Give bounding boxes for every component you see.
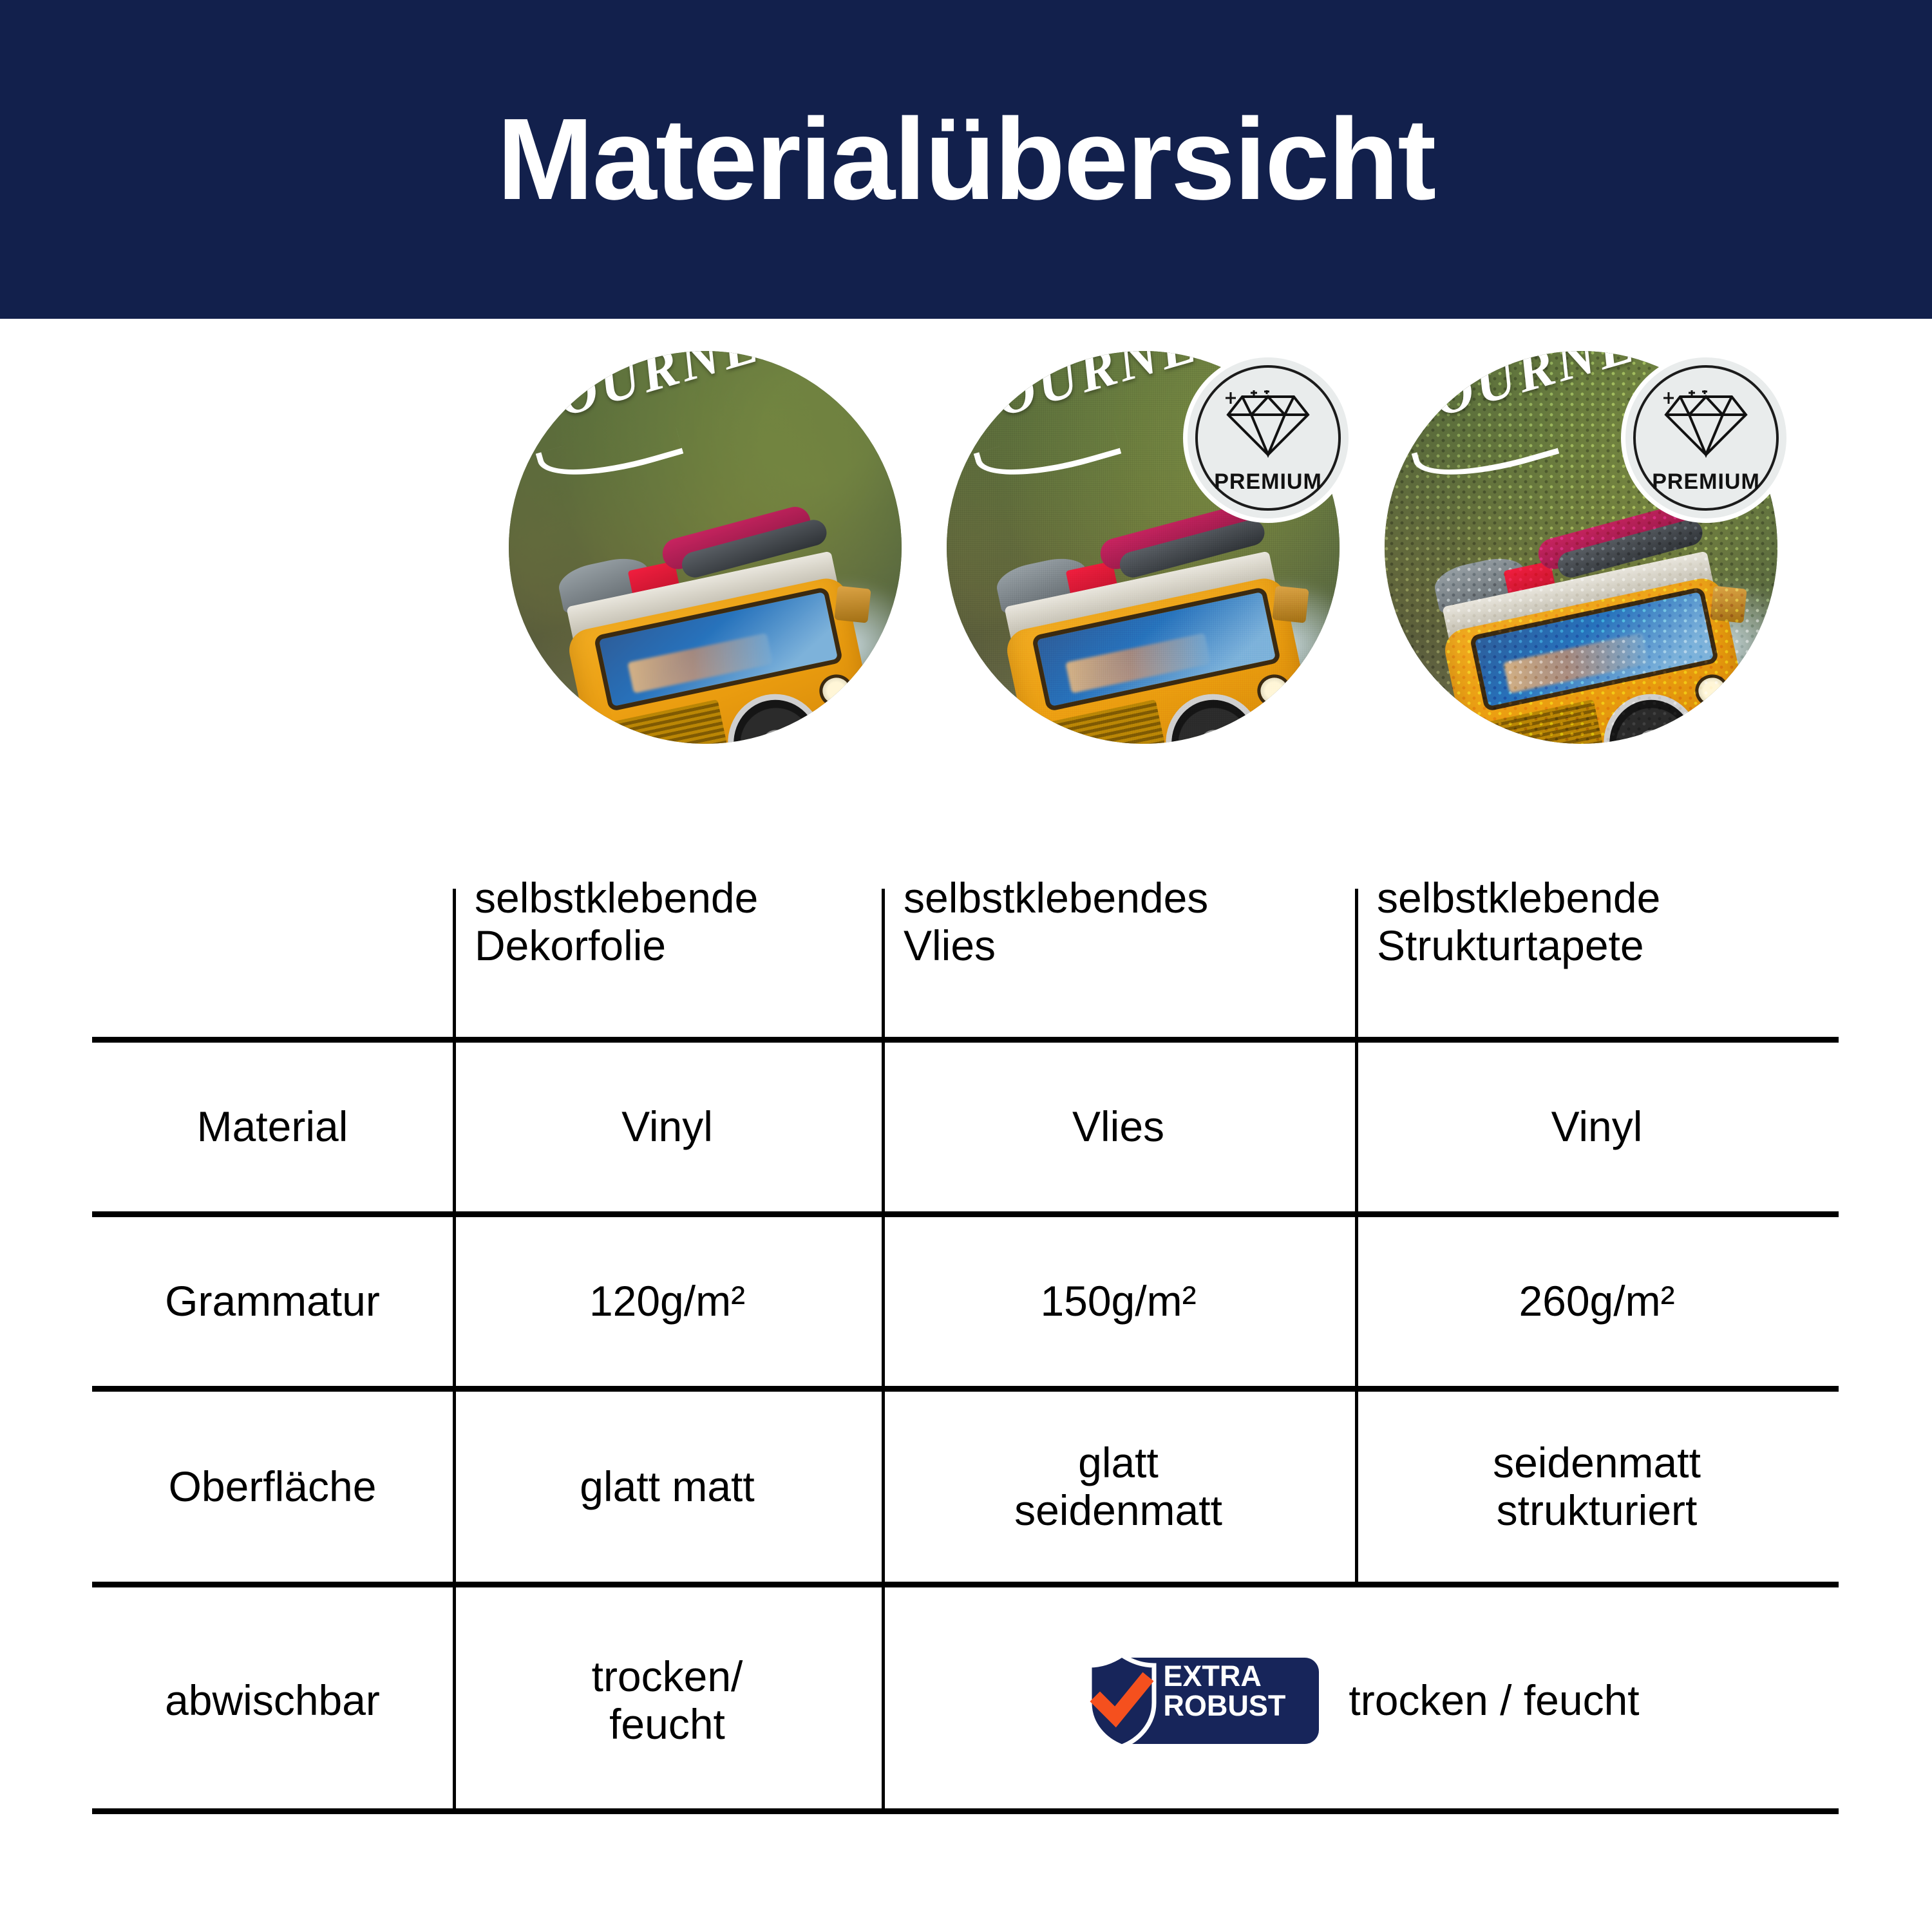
table-row: Grammatur 120g/m² 150g/m² 260g/m² xyxy=(92,1217,1839,1386)
column-header-strukturtapete: selbstklebende Strukturtapete xyxy=(1355,857,1839,1037)
table-header-row: selbstklebende Dekorfolie selbstklebende… xyxy=(92,857,1839,1037)
cell-grammatur-vlies: 150g/m² xyxy=(882,1217,1355,1386)
van-graphic xyxy=(522,492,902,744)
premium-badge-label: PREMIUM xyxy=(1214,469,1322,495)
cell-abwischbar-merged: EXTRA ROBUST trocken / feucht xyxy=(882,1587,1839,1814)
column-header-line2: Strukturtapete xyxy=(1377,922,1660,970)
van-side-mirror xyxy=(834,586,871,623)
column-header-line2: Vlies xyxy=(904,922,1208,970)
row-rule-1 xyxy=(92,1211,1839,1217)
column-header-vlies: selbstklebendes Vlies xyxy=(882,857,1355,1037)
cell-abwischbar-dekorfolie: trocken/ feucht xyxy=(453,1587,882,1814)
column-header-line2: Dekorfolie xyxy=(475,922,758,970)
premium-badge-label: PREMIUM xyxy=(1652,469,1760,495)
extra-robust-line1: EXTRA xyxy=(1163,1662,1315,1691)
camper-van-photo xyxy=(509,351,902,744)
row-rule-top xyxy=(92,1037,1839,1043)
cell-material-vlies: Vlies xyxy=(882,1043,1355,1211)
preview-dekorfolie[interactable]: JOURNEY xyxy=(509,351,902,744)
cell-material-strukturtapete: Vinyl xyxy=(1355,1043,1839,1211)
extra-robust-text: EXTRA ROBUST xyxy=(1163,1662,1315,1721)
diamond-icon xyxy=(1223,390,1313,466)
page-title: Materialübersicht xyxy=(497,102,1435,218)
extra-robust-badge: EXTRA ROBUST xyxy=(1081,1653,1319,1749)
column-header-line1: selbstklebendes xyxy=(904,875,1208,922)
premium-badge: PREMIUM xyxy=(1625,357,1786,518)
table-row: abwischbar trocken/ feucht EXTRA ROBUST … xyxy=(92,1587,1839,1814)
table-row: Material Vinyl Vlies Vinyl xyxy=(92,1043,1839,1211)
row-label-grammatur: Grammatur xyxy=(92,1217,453,1386)
cell-oberflaeche-strukturtapete: seidenmatt strukturiert xyxy=(1355,1392,1839,1582)
row-label-oberflaeche: Oberfläche xyxy=(92,1392,453,1582)
preview-circle-image: JOURNEY xyxy=(509,351,902,744)
extra-robust-line2: ROBUST xyxy=(1163,1691,1315,1721)
cell-material-dekorfolie: Vinyl xyxy=(453,1043,882,1211)
material-preview-row: JOURNEY xyxy=(0,351,1932,770)
row-label-abwischbar: abwischbar xyxy=(92,1587,453,1814)
preview-strukturtapete[interactable]: JOURNEY PREMIUM xyxy=(1385,351,1777,744)
cell-grammatur-strukturtapete: 260g/m² xyxy=(1355,1217,1839,1386)
page-header-banner: Materialübersicht xyxy=(0,0,1932,319)
diamond-icon xyxy=(1661,390,1751,466)
column-header-line1: selbstklebende xyxy=(1377,875,1660,922)
cell-oberflaeche-dekorfolie: glatt matt xyxy=(453,1392,882,1582)
column-header-dekorfolie: selbstklebende Dekorfolie xyxy=(453,857,882,1037)
table-row: Oberfläche glatt matt glatt seidenmatt s… xyxy=(92,1392,1839,1582)
preview-vlies[interactable]: JOURNEY PREMIUM xyxy=(947,351,1340,744)
shield-check-icon xyxy=(1084,1653,1159,1749)
row-rule-2 xyxy=(92,1386,1839,1392)
material-overview-table: selbstklebende Dekorfolie selbstklebende… xyxy=(92,857,1839,1817)
row-label-material: Material xyxy=(92,1043,453,1211)
premium-badge: PREMIUM xyxy=(1188,357,1349,518)
column-header-line1: selbstklebende xyxy=(475,875,758,922)
cell-abwischbar-merged-text: trocken / feucht xyxy=(1349,1677,1639,1725)
row-rule-3 xyxy=(92,1582,1839,1587)
cell-grammatur-dekorfolie: 120g/m² xyxy=(453,1217,882,1386)
cell-oberflaeche-vlies: glatt seidenmatt xyxy=(882,1392,1355,1582)
